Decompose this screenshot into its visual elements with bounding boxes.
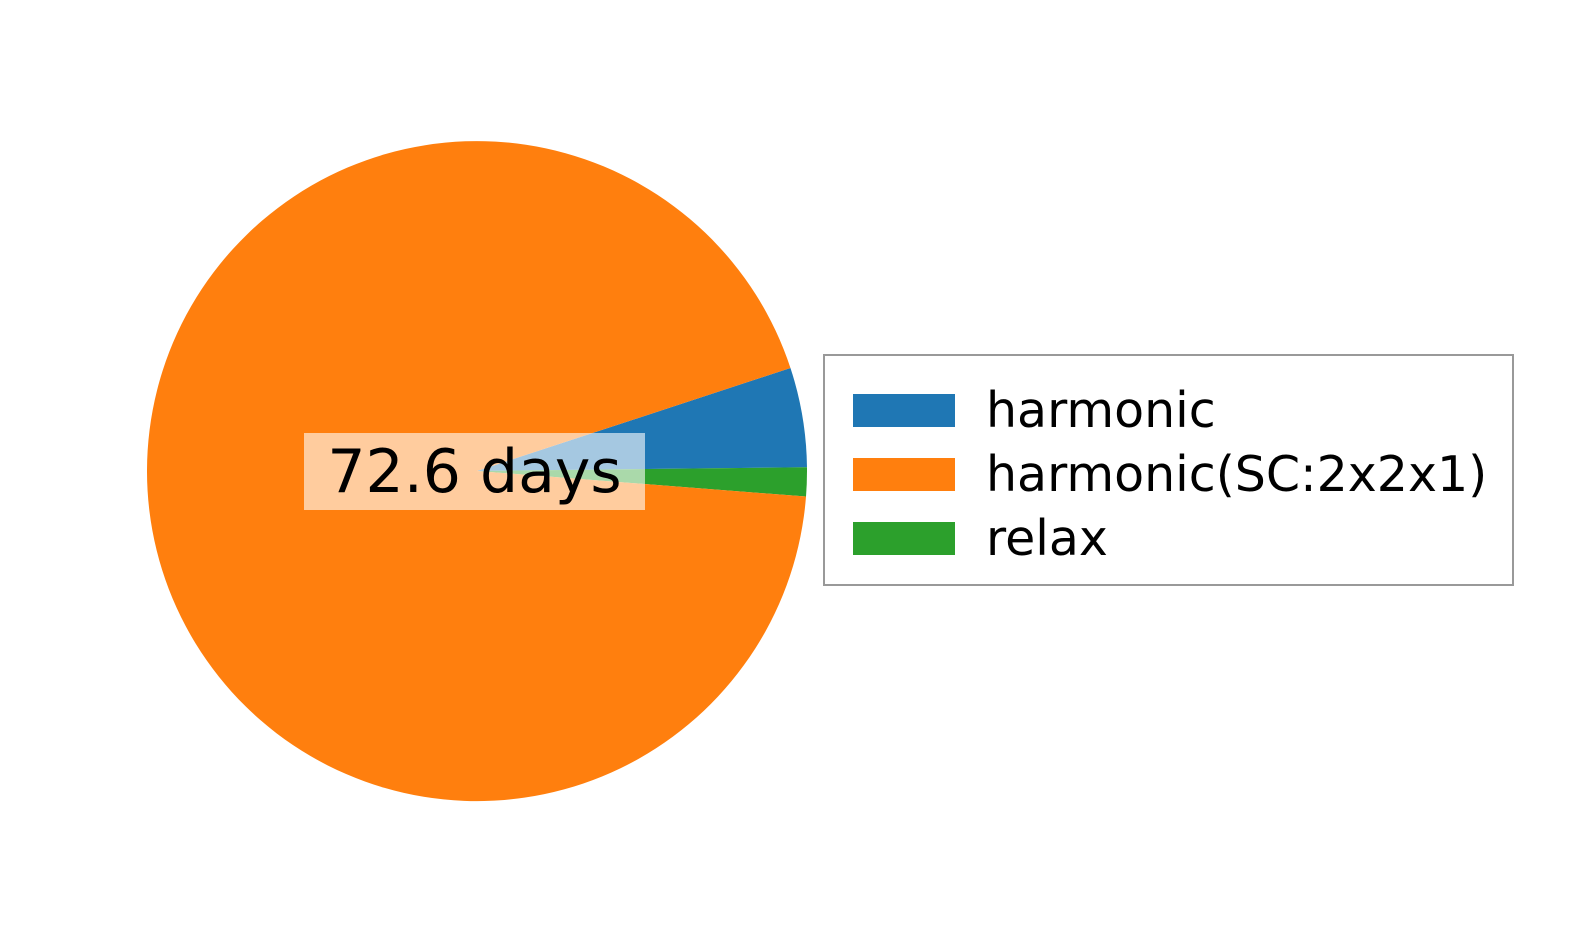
legend-label-harmonic: harmonic: [986, 386, 1216, 435]
legend: harmonic harmonic(SC:2x2x1) relax: [823, 354, 1514, 586]
legend-swatch-harmonic: [853, 394, 955, 427]
legend-item-harmonic[interactable]: harmonic: [853, 378, 1512, 442]
legend-item-harmonic-sc-2x2x1[interactable]: harmonic(SC:2x2x1): [853, 442, 1512, 506]
legend-label-relax: relax: [986, 514, 1108, 563]
pie-chart-area: [147, 141, 807, 801]
legend-swatch-harmonic-sc-2x2x1: [853, 458, 955, 491]
pie-svg: [147, 141, 807, 801]
legend-swatch-relax: [853, 522, 955, 555]
pie-chart-figure: 72.6 days harmonic harmonic(SC:2x2x1) re…: [0, 0, 1584, 951]
legend-label-harmonic-sc-2x2x1: harmonic(SC:2x2x1): [986, 450, 1487, 499]
legend-item-relax[interactable]: relax: [853, 506, 1512, 570]
